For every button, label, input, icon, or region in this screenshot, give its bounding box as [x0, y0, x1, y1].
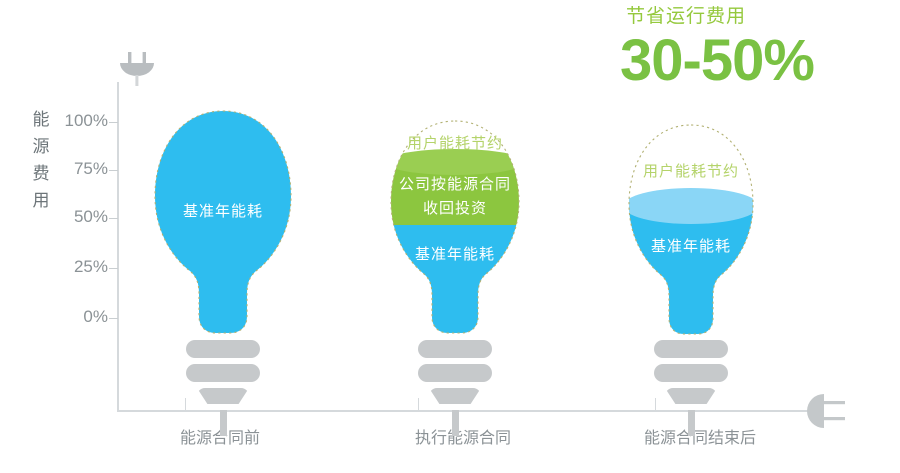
y-tick-50: 50% — [52, 207, 108, 227]
y-tickmark-50 — [109, 218, 118, 219]
y-tickmark-100 — [109, 122, 118, 123]
y-tickmark-75 — [109, 170, 118, 171]
bulb3-base — [623, 340, 759, 436]
bulb-before-contract: 基准年能耗 — [148, 108, 298, 336]
y-axis-line — [117, 82, 119, 412]
y-tickmark-25 — [109, 268, 118, 269]
y-tick-75: 75% — [52, 159, 108, 179]
header-subtitle: 节省运行费用 — [626, 4, 890, 30]
bulb2-base-ring-2 — [418, 364, 492, 382]
y-tickmark-0 — [109, 318, 118, 319]
power-socket-icon — [806, 390, 848, 432]
bulb-after-contract-shape — [623, 122, 759, 336]
y-tick-100: 100% — [52, 111, 108, 131]
bulb1-base — [148, 340, 298, 436]
bulb3-base-stem — [688, 410, 695, 436]
bulb2-base-ring-1 — [418, 340, 492, 358]
bulb2-base-ring-3 — [429, 388, 481, 404]
bulb2-base — [385, 340, 525, 436]
bulb1-base-ring-1 — [186, 340, 260, 358]
bulb-during-contract-shape — [385, 118, 525, 336]
power-plug-icon — [118, 52, 156, 86]
infographic-canvas: 节省运行费用 30-50% 能源费用 100% 75% 50% 25% 0% 能… — [0, 0, 900, 473]
y-tick-0: 0% — [52, 307, 108, 327]
bulb1-base-ring-2 — [186, 364, 260, 382]
header-block: 节省运行费用 30-50% — [620, 4, 890, 90]
bulb3-base-ring-2 — [654, 364, 728, 382]
bulb-before-contract-shape — [148, 108, 298, 336]
y-axis-title: 能源费用 — [28, 106, 54, 214]
y-tick-25: 25% — [52, 257, 108, 277]
bulb1-base-ring-3 — [197, 388, 249, 404]
header-headline: 30-50% — [620, 32, 890, 90]
bulb1-base-stem — [220, 410, 227, 436]
bulb-after-contract: 用户能耗节约 基准年能耗 — [623, 122, 759, 336]
y-axis-title-text: 能源费用 — [28, 106, 54, 214]
bulb3-base-ring-1 — [654, 340, 728, 358]
bulb3-base-ring-3 — [665, 388, 717, 404]
bulb2-base-stem — [452, 410, 459, 436]
bulb-during-contract: 用户能耗节约 公司按能源合同 收回投资 基准年能耗 — [385, 118, 525, 336]
